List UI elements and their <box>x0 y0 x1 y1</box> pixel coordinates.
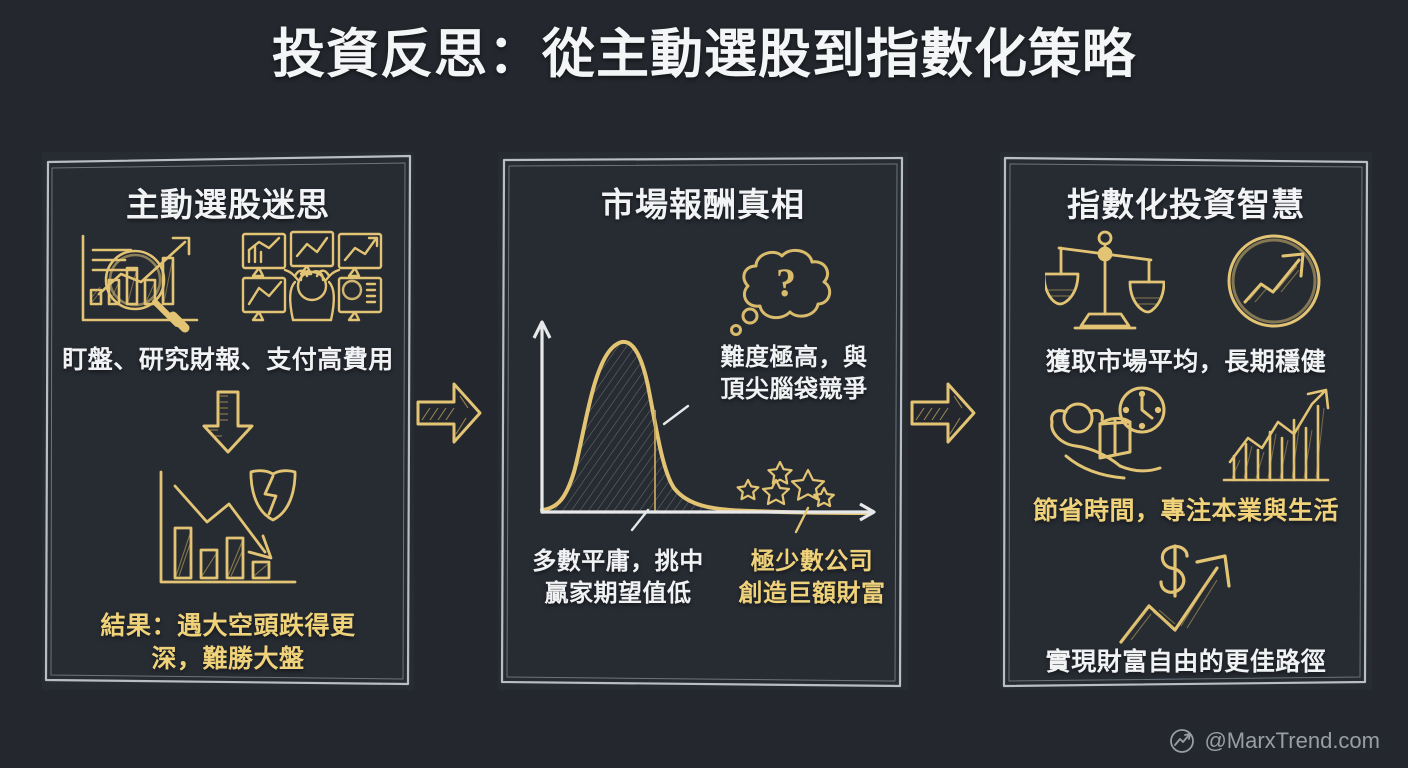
bar-chart-magnifier-icon <box>69 224 209 336</box>
circled-trend-arrow-icon <box>1221 228 1327 334</box>
panel-title-3: 指數化投資智慧 <box>1000 178 1372 226</box>
note-few-companies-line2: 創造巨額財富 <box>726 578 898 610</box>
panel3-caption-2: 節省時間，專注本業與生活 <box>1000 495 1372 528</box>
svg-text:?: ? <box>776 260 796 305</box>
leader-line-right <box>664 406 688 424</box>
arrow-panel2-to-panel3 <box>908 376 978 455</box>
note-mediocre-line2: 贏家期望值低 <box>512 578 724 610</box>
panel1-caption-bottom-line1: 結果：遇大空頭跌得更 <box>42 610 414 643</box>
stressed-trader-monitors-icon <box>237 224 387 336</box>
panel-active-picking-myth: 主動選股迷思 <box>42 152 414 690</box>
panel1-caption-top: 盯盤、研究財報、支付高費用 <box>42 344 414 377</box>
note-difficulty-line2: 頂尖腦袋競爭 <box>694 374 894 406</box>
dollar-rising-arrow-icon <box>1113 534 1259 650</box>
panel-index-investing-wisdom: 指數化投資智慧 <box>1000 152 1372 690</box>
watermark: @MarxTrend.com <box>1169 728 1380 754</box>
note-mediocre-line1: 多數平庸，挑中 <box>512 546 724 578</box>
growth-bar-chart-icon <box>1216 384 1336 490</box>
panel-title-2: 市場報酬真相 <box>498 178 908 226</box>
arrow-panel1-to-panel2 <box>414 376 484 455</box>
panel3-caption-3: 實現財富自由的更佳路徑 <box>1000 646 1372 679</box>
relaxing-reader-clock-icon <box>1036 384 1176 490</box>
page-title: 投資反思：從主動選股到指數化策略 <box>0 20 1408 90</box>
balance-scale-icon <box>1045 228 1165 334</box>
declining-chart-broken-shield-icon <box>145 464 311 600</box>
panel3-caption-1: 獲取市場平均，長期穩健 <box>1000 346 1372 379</box>
distribution-chart <box>512 302 894 542</box>
panel-title-1: 主動選股迷思 <box>42 178 414 226</box>
stars-icon <box>738 462 834 506</box>
note-difficulty: 難度極高，與 頂尖腦袋競爭 <box>694 342 894 406</box>
note-mediocre-majority: 多數平庸，挑中 贏家期望值低 <box>512 546 724 610</box>
note-difficulty-line1: 難度極高，與 <box>694 342 894 374</box>
note-few-companies: 極少數公司 創造巨額財富 <box>726 546 898 610</box>
trend-circle-icon <box>1169 728 1195 754</box>
panel-market-return-truth: 市場報酬真相 ? <box>498 152 908 690</box>
panel1-caption-bottom-line2: 深，難勝大盤 <box>42 643 414 676</box>
infographic-root: 投資反思：從主動選股到指數化策略 主動選股迷思 <box>0 0 1408 768</box>
down-arrow-icon <box>196 388 260 456</box>
watermark-text: @MarxTrend.com <box>1204 728 1380 754</box>
note-few-companies-line1: 極少數公司 <box>726 546 898 578</box>
